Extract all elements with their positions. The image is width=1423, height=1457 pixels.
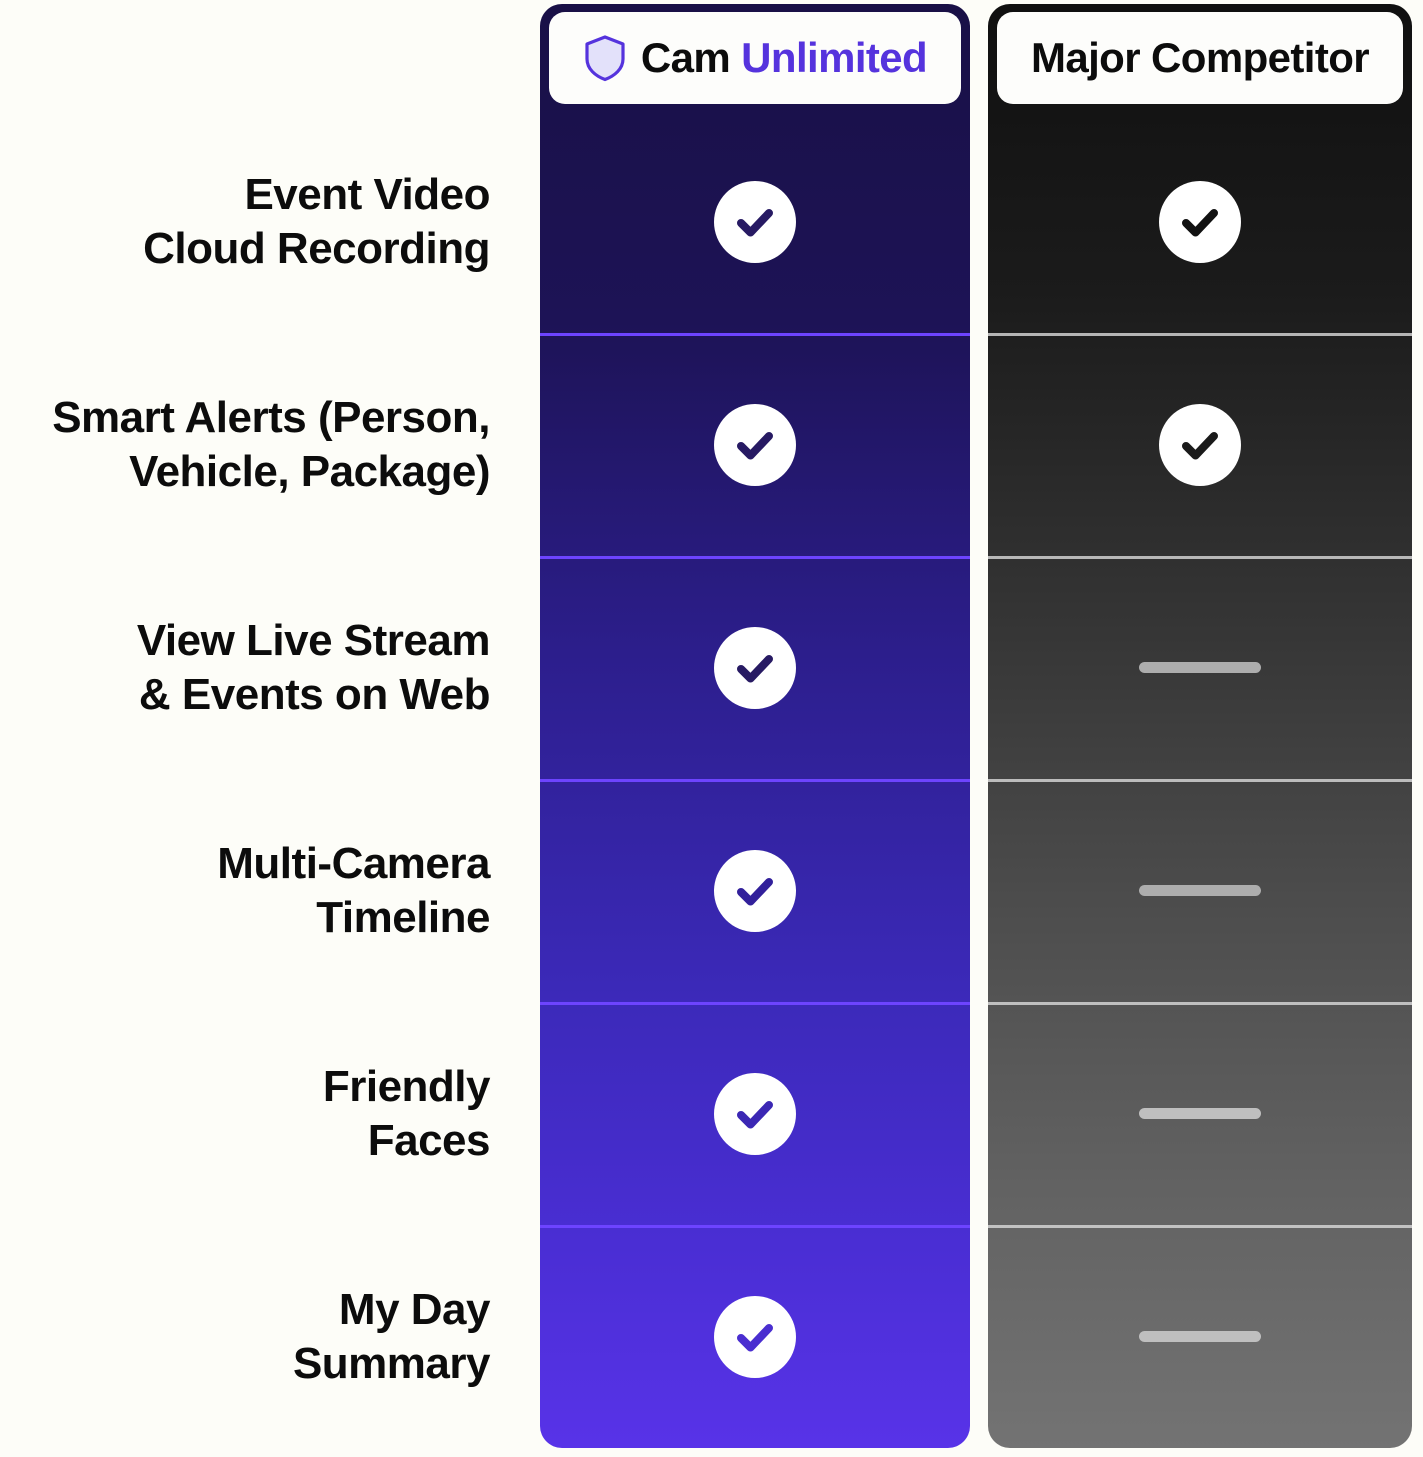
feature-label-smart-alerts: Smart Alerts (Person, Vehicle, Package) bbox=[52, 391, 490, 498]
header-title-cam-unlimited: Cam Unlimited bbox=[641, 34, 927, 82]
header-card: Major Competitor bbox=[997, 12, 1403, 104]
cell-competitor-view-live-stream bbox=[988, 556, 1412, 779]
cell-competitor-friendly-faces bbox=[988, 1002, 1412, 1225]
cell-cam-smart-alerts bbox=[540, 333, 970, 556]
check-icon bbox=[1159, 181, 1241, 263]
feature-label-row: Event Video Cloud Recording bbox=[0, 110, 512, 333]
check-icon bbox=[714, 1073, 796, 1155]
check-icon bbox=[714, 850, 796, 932]
header-product-text: Unlimited bbox=[741, 34, 927, 81]
feature-label-column: Event Video Cloud Recording Smart Alerts… bbox=[0, 110, 512, 1448]
dash-icon bbox=[1139, 1108, 1261, 1119]
feature-label-multi-camera-timeline: Multi-Camera Timeline bbox=[217, 837, 490, 944]
column-header-major-competitor: Major Competitor bbox=[988, 4, 1412, 110]
feature-label-friendly-faces: Friendly Faces bbox=[323, 1060, 490, 1167]
cell-cam-multi-camera-timeline bbox=[540, 779, 970, 1002]
cell-competitor-my-day-summary bbox=[988, 1225, 1412, 1448]
check-icon bbox=[714, 404, 796, 486]
feature-label-row: Multi-Camera Timeline bbox=[0, 779, 512, 1002]
check-icon bbox=[1159, 404, 1241, 486]
cell-competitor-multi-camera-timeline bbox=[988, 779, 1412, 1002]
check-icon bbox=[714, 627, 796, 709]
feature-comparison-table: Event Video Cloud Recording Smart Alerts… bbox=[0, 0, 1423, 1457]
header-title-major-competitor: Major Competitor bbox=[1031, 34, 1369, 82]
feature-label-row: Friendly Faces bbox=[0, 1002, 512, 1225]
dash-icon bbox=[1139, 885, 1261, 896]
cam-unlimited-cells bbox=[540, 110, 970, 1448]
feature-label-row: View Live Stream & Events on Web bbox=[0, 556, 512, 779]
feature-label-row: Smart Alerts (Person, Vehicle, Package) bbox=[0, 333, 512, 556]
cell-cam-my-day-summary bbox=[540, 1225, 970, 1448]
feature-label-view-live-stream: View Live Stream & Events on Web bbox=[137, 614, 490, 721]
cell-cam-view-live-stream bbox=[540, 556, 970, 779]
column-header-cam-unlimited: Cam Unlimited bbox=[540, 4, 970, 110]
cell-competitor-event-video-cloud-recording bbox=[988, 110, 1412, 333]
header-brand-text: Cam bbox=[641, 34, 730, 81]
dash-icon bbox=[1139, 1331, 1261, 1342]
major-competitor-cells bbox=[988, 110, 1412, 1448]
dash-icon bbox=[1139, 662, 1261, 673]
column-cam-unlimited: Cam Unlimited bbox=[540, 4, 970, 1448]
cell-cam-event-video-cloud-recording bbox=[540, 110, 970, 333]
feature-label-event-video-cloud-recording: Event Video Cloud Recording bbox=[143, 168, 490, 275]
shield-icon bbox=[583, 34, 627, 82]
cell-cam-friendly-faces bbox=[540, 1002, 970, 1225]
feature-label-my-day-summary: My Day Summary bbox=[293, 1283, 490, 1390]
feature-label-row: My Day Summary bbox=[0, 1225, 512, 1448]
header-card: Cam Unlimited bbox=[549, 12, 961, 104]
column-major-competitor: Major Competitor bbox=[988, 4, 1412, 1448]
check-icon bbox=[714, 1296, 796, 1378]
cell-competitor-smart-alerts bbox=[988, 333, 1412, 556]
check-icon bbox=[714, 181, 796, 263]
